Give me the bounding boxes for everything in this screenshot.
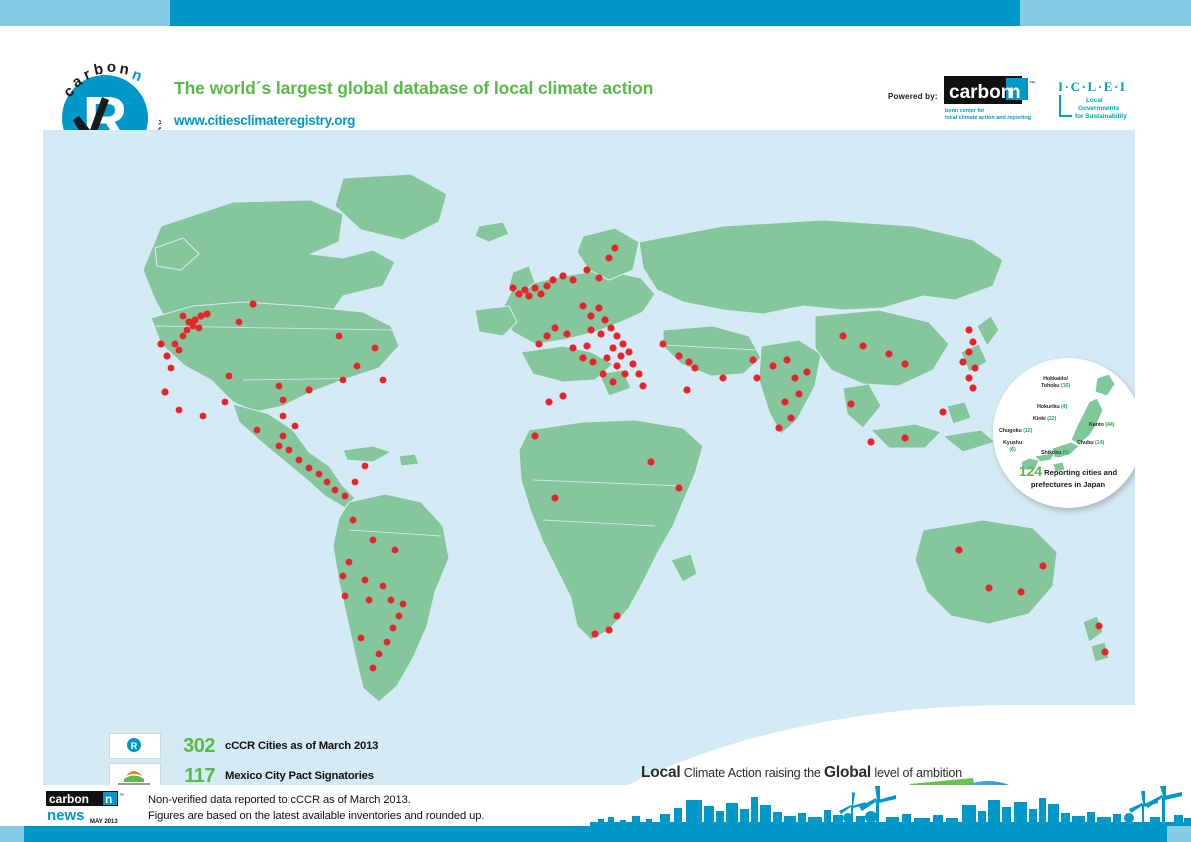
iclei-logo: I·C·L·E·I Local Governments for Sustaina… [1056, 78, 1136, 120]
japan-region-chugoku: Chugoku (12) [999, 428, 1032, 435]
svg-text:R: R [131, 741, 138, 751]
svg-text:™: ™ [1029, 80, 1035, 87]
svg-text:Local: Local [1086, 97, 1103, 104]
rising-arrow-icon [693, 778, 985, 785]
legend: R 302 cCCR Cities as of March 2013 117 M… [109, 731, 409, 785]
svg-text:MAY 2013: MAY 2013 [90, 819, 118, 825]
japan-inset[interactable]: Hokkaido/ Tohoku (16) Hokuriku (4) Kinki… [993, 358, 1135, 510]
ambition-chart: Local Climate Action raising the Global … [633, 764, 1073, 785]
header: R c a r b o n n C I T I E S C L I M [0, 26, 1191, 130]
city-skyline-graphic [590, 786, 1191, 828]
legend-label: Mexico City Pact Signatories [225, 770, 374, 782]
japan-region-kinki: Kinki (22) [1033, 416, 1056, 423]
japan-region-shikoku: Shikoku (6) [1041, 450, 1069, 457]
svg-text:Governments: Governments [1078, 105, 1120, 112]
svg-text:o: o [107, 59, 117, 76]
city-skyline-svg [590, 786, 1191, 828]
site-url-link[interactable]: www.citiesclimateregistry.org [174, 113, 794, 128]
svg-text:carbon: carbon [49, 792, 89, 806]
carbonn-news-logo: carbon n ™ news MAY 2013 [46, 791, 142, 825]
footer-note-line1: Non-verified data reported to cCCR as of… [148, 792, 484, 808]
mexico-city-pact-icon [109, 763, 161, 785]
world-map-svg[interactable] [43, 130, 1135, 785]
japan-total-block: 124Reporting cities and prefectures in J… [999, 462, 1135, 490]
japan-region-hokuriku: Hokuriku (4) [1037, 404, 1067, 411]
carbonn-logo-svg: carbon n ™ bonn center for local climate… [944, 76, 1036, 122]
japan-total-number: 124 [1019, 463, 1042, 479]
world-map-panel[interactable]: Hokkaido/ Tohoku (16) Hokuriku (4) Kinki… [43, 130, 1135, 785]
svg-text:for Sustainability: for Sustainability [1075, 113, 1127, 120]
carbonn-logo: carbon n ™ bonn center for local climate… [944, 76, 1036, 122]
japan-total-line2: prefectures in Japan [1031, 480, 1105, 489]
legend-item-ccr-cities[interactable]: R 302 cCCR Cities as of March 2013 [109, 731, 409, 761]
svg-text:Y: Y [156, 119, 161, 127]
svg-text:™: ™ [119, 793, 124, 799]
japan-region-chubu: Chubu (14) [1077, 440, 1104, 447]
japan-region-kyushu: Kyushu (6) [1003, 440, 1022, 454]
chart-graphic-svg [633, 764, 1073, 785]
legend-item-mexico-city-pact[interactable]: 117 Mexico City Pact Signatories [109, 761, 409, 785]
title-block: The world´s largest global database of l… [174, 78, 794, 128]
japan-total-line1: Reporting cities and [1044, 468, 1117, 477]
svg-text:carbon: carbon [949, 82, 1012, 103]
bottom-banner-dark [24, 826, 1167, 842]
ccr-badge-icon: R [109, 733, 161, 759]
powered-by-label: Powered by: [888, 92, 938, 101]
iclei-logo-svg: I·C·L·E·I Local Governments for Sustaina… [1056, 78, 1136, 120]
footer-note: Non-verified data reported to cCCR as of… [148, 792, 484, 824]
legend-label: cCCR Cities as of March 2013 [225, 740, 378, 752]
legend-number: 302 [167, 735, 215, 758]
svg-text:n: n [1009, 82, 1021, 103]
svg-text:news: news [47, 807, 85, 824]
svg-text:I·C·L·E·I: I·C·L·E·I [1058, 79, 1127, 94]
carbonn-tagline-1: bonn center for [945, 108, 985, 114]
page-title: The world´s largest global database of l… [174, 78, 794, 99]
japan-region-kanto: Kanto (44) [1089, 422, 1114, 429]
carbonn-news-logo-svg: carbon n ™ news MAY 2013 [46, 791, 142, 825]
footer-note-line2: Figures are based on the latest availabl… [148, 808, 484, 824]
legend-number: 117 [167, 765, 215, 786]
svg-text:n: n [105, 792, 112, 806]
japan-region-hokkaido-tohoku: Hokkaido/ Tohoku (16) [1041, 376, 1070, 390]
top-banner-dark [170, 0, 1020, 26]
carbonn-tagline-2: local climate action and reporting [945, 115, 1031, 121]
